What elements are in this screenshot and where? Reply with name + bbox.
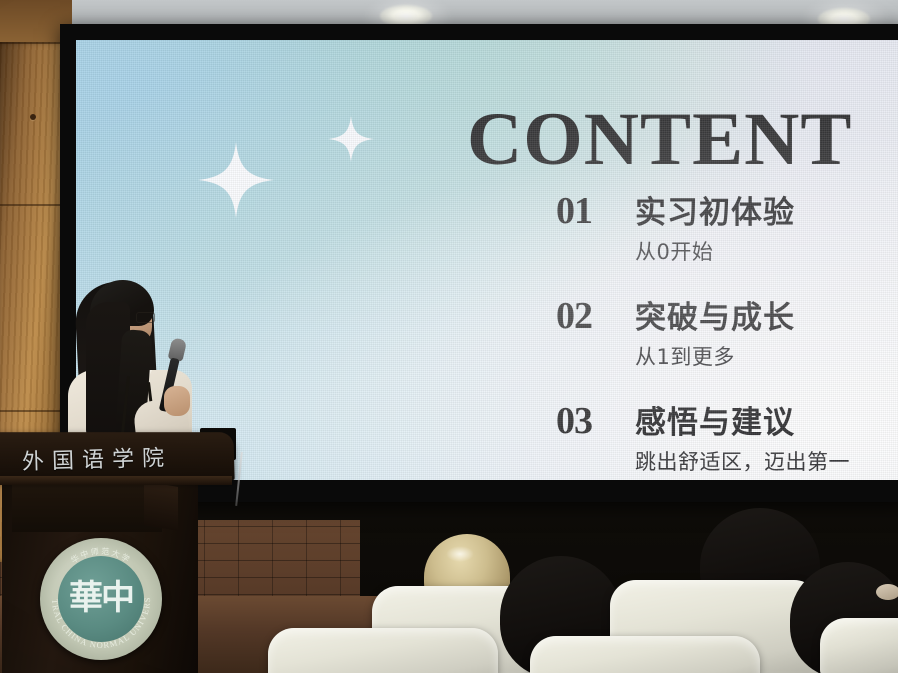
- contents-item-heading: 突破与成长: [635, 303, 795, 334]
- university-emblem: 华中师范大学 CENTRAL CHINA NORMAL UNIVERSITY 華…: [40, 538, 162, 660]
- podium-label: 外国语学院: [22, 440, 173, 476]
- contents-item-subtitle: 跳出舒适区，迈出第一: [635, 446, 898, 476]
- head-highlight: [446, 546, 474, 562]
- podium-side-panel: [144, 481, 178, 531]
- lecture-hall-photo: CONTENT 01 实习初体验 从0开始 02 突破与成长 从1到更多 03: [0, 0, 898, 673]
- slide-contents-list: 01 实习初体验 从0开始 02 突破与成长 从1到更多 03 感悟与建议 跳出…: [556, 192, 898, 480]
- contents-item-02: 02 突破与成长 从1到更多: [556, 297, 898, 371]
- wall-screw-icon: [30, 114, 36, 120]
- presenter-hand-holding-mic: [164, 386, 190, 416]
- podium-lip: [0, 476, 232, 485]
- emblem-seal: 華中: [58, 556, 144, 642]
- sparkle-large-icon: [198, 142, 274, 218]
- contents-item-number: 01: [556, 192, 618, 230]
- sparkle-small-icon: [328, 116, 374, 162]
- contents-item-heading: 感悟与建议: [635, 408, 795, 439]
- slide-title: CONTENT: [467, 102, 852, 177]
- contents-item-03: 03 感悟与建议 跳出舒适区，迈出第一: [556, 402, 898, 476]
- contents-item-number: 03: [556, 402, 618, 440]
- presenter-glasses-icon: [136, 312, 155, 323]
- emblem-glyph: 華中: [58, 556, 144, 642]
- podium: 外国语学院 华中师范大学 CENTRAL CHINA NORMAL UNIVER…: [0, 432, 244, 673]
- contents-item-01: 01 实习初体验 从0开始: [556, 192, 898, 266]
- audience-seat: [268, 628, 498, 673]
- audience-seat: [820, 618, 898, 673]
- hair-tie-icon: [876, 584, 898, 600]
- contents-item-number: 02: [556, 297, 618, 335]
- contents-item-subtitle: 从1到更多: [635, 341, 898, 371]
- contents-item-subtitle: 从0开始: [635, 236, 898, 266]
- contents-item-heading: 实习初体验: [635, 198, 795, 229]
- podium-neck: [12, 484, 162, 532]
- audience-seat: [530, 636, 760, 673]
